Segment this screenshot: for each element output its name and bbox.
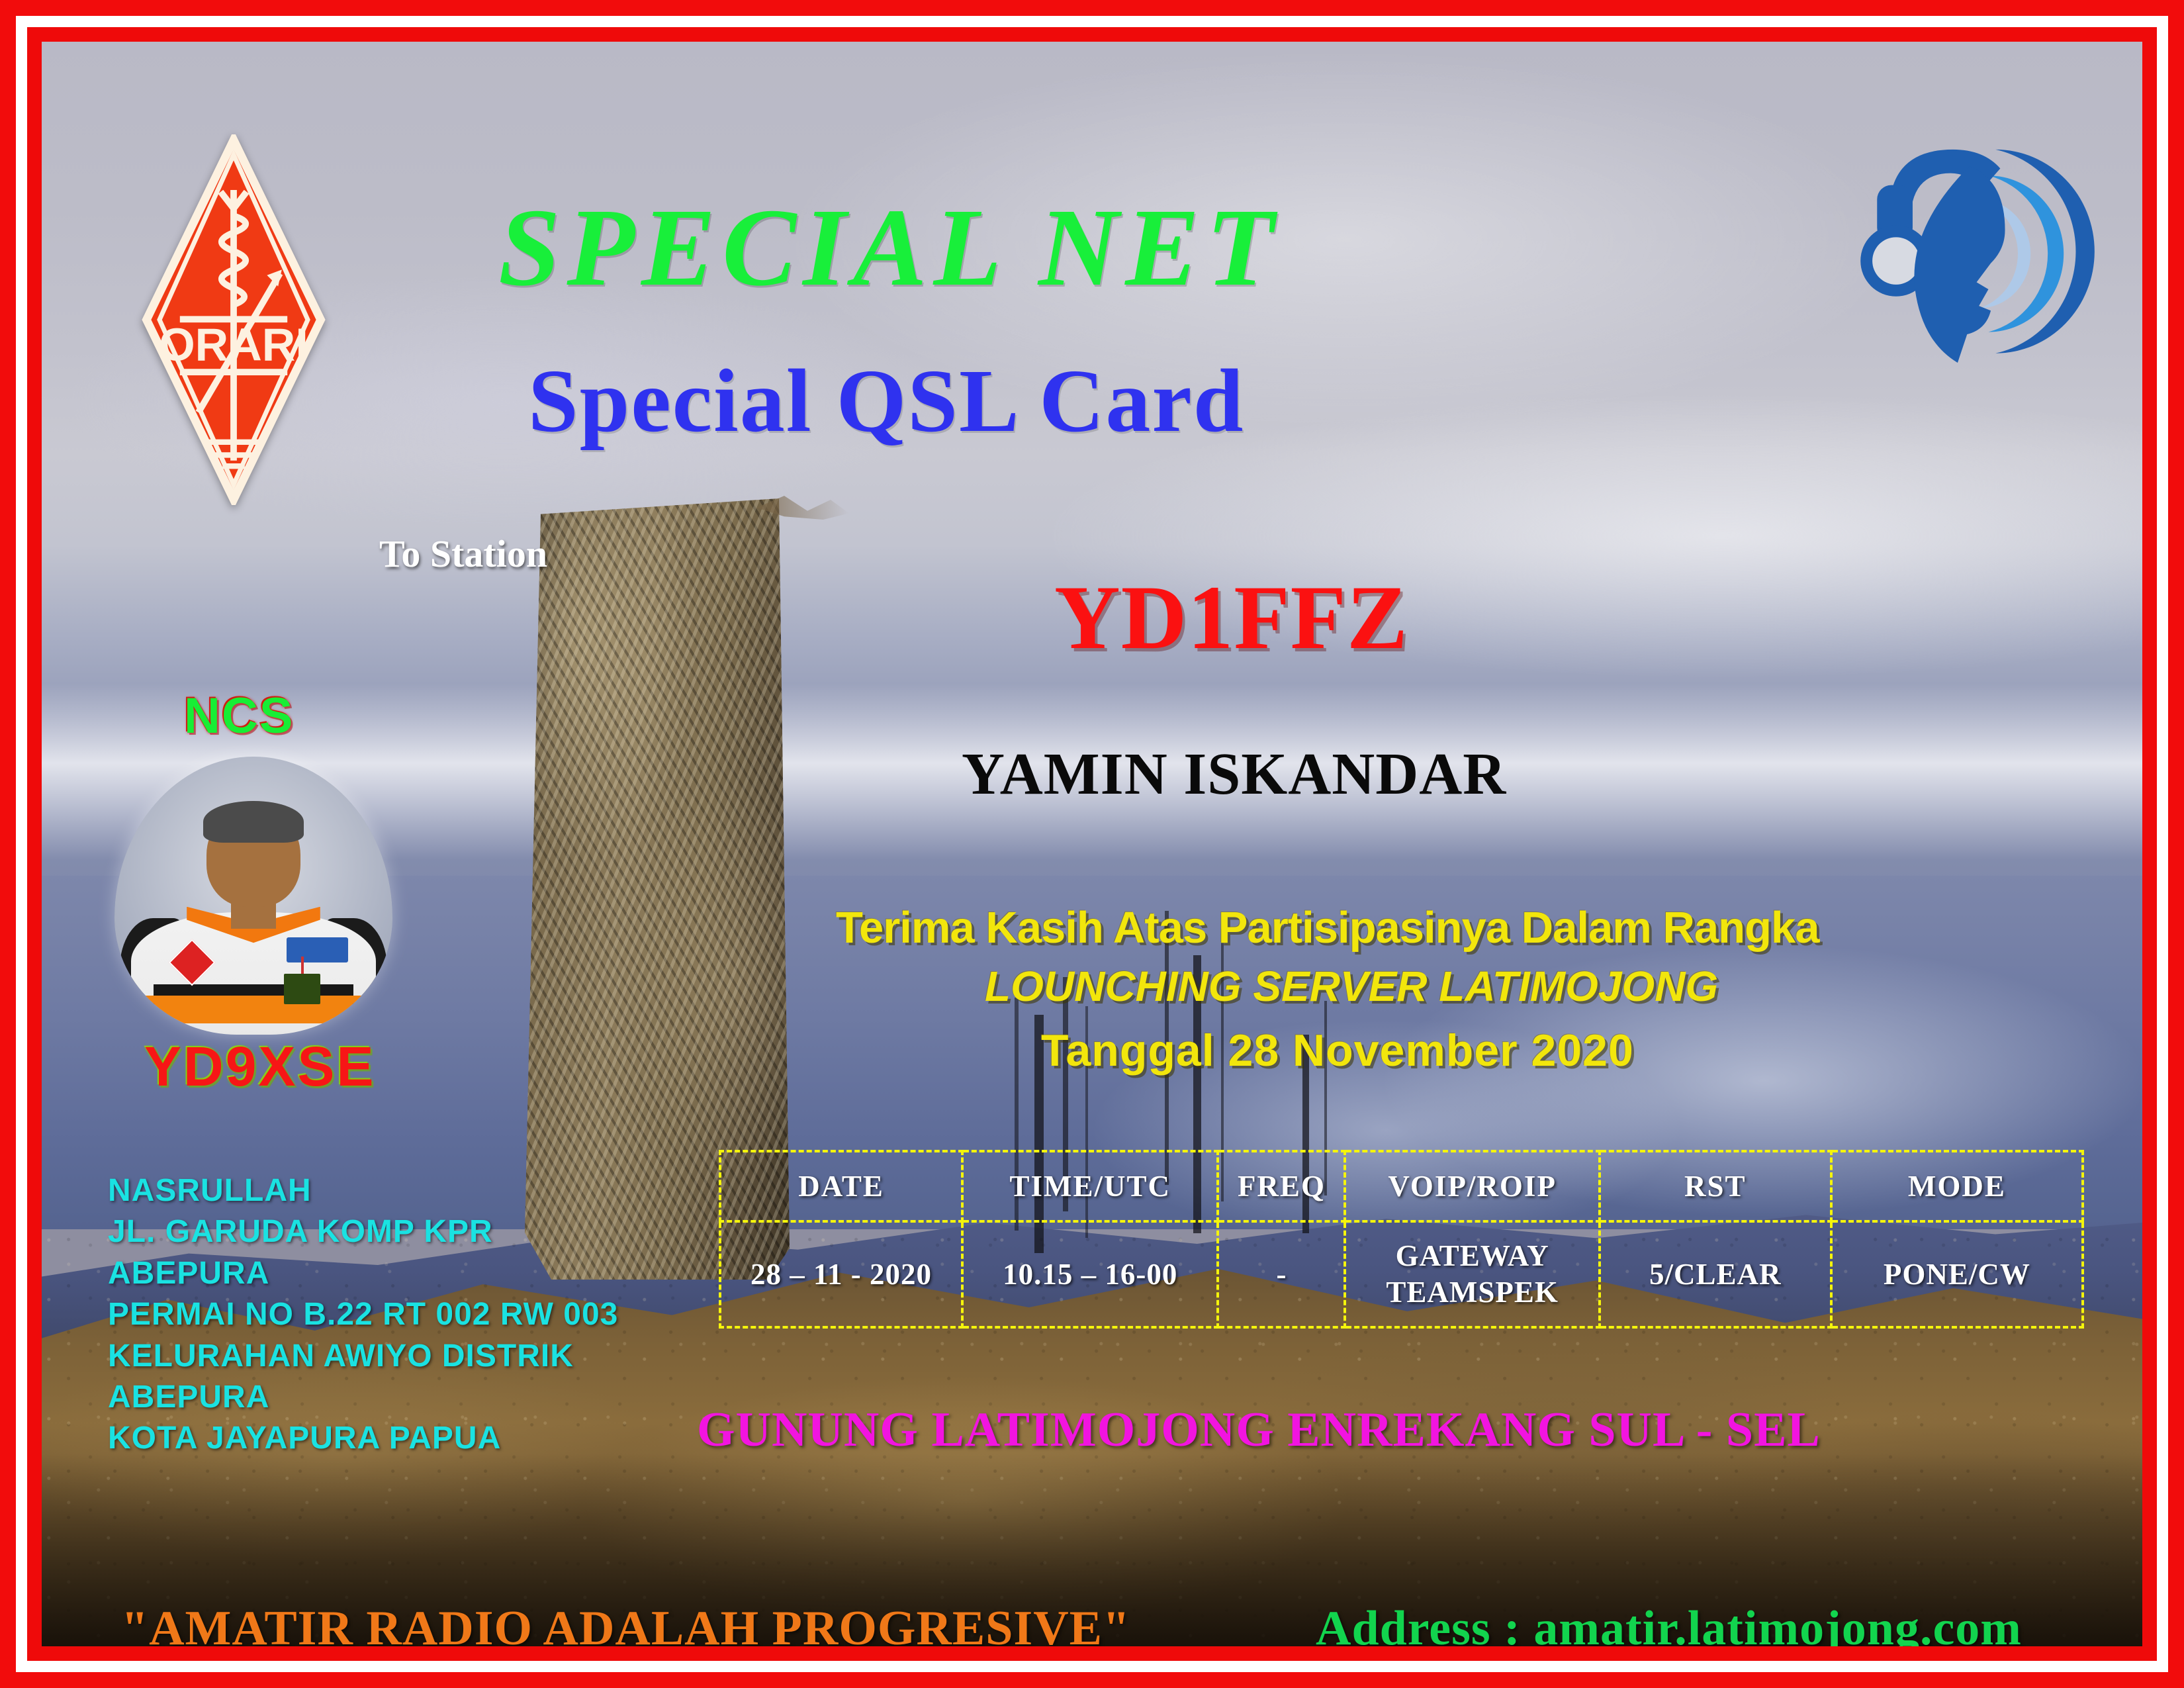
portrait-club-patch — [287, 937, 347, 962]
cell-voip: GATEWAY TEAMSPEK — [1345, 1221, 1599, 1327]
event-name: LOUNCHING SERVER LATIMOJONG — [985, 962, 1718, 1011]
address-line: ABEPURA — [108, 1377, 618, 1418]
recipient-callsign: YD1FFZ — [1054, 565, 1408, 670]
table-header-row: DATE TIME/UTC FREQ VOIP/ROIP RST MODE — [720, 1151, 2083, 1221]
address-line: PERMAI NO B.22 RT 002 RW 003 — [108, 1294, 618, 1335]
address-line: KOTA JAYAPURA PAPUA — [108, 1418, 618, 1459]
qso-log-table: DATE TIME/UTC FREQ VOIP/ROIP RST MODE 28… — [719, 1150, 2084, 1329]
portrait-hair — [203, 801, 303, 843]
qsl-card-outer-border: ORARI SPECIAL NET Spe — [0, 0, 2184, 1688]
event-date: Tanggal 28 November 2020 — [1041, 1025, 1634, 1076]
address-line: NASRULLAH — [108, 1170, 618, 1211]
address-line: KELURAHAN AWIYO DISTRIK — [108, 1336, 618, 1377]
column-header-date: DATE — [720, 1151, 962, 1221]
qsl-mailing-address: NASRULLAH JL. GARUDA KOMP KPR ABEPURA PE… — [108, 1170, 618, 1460]
cell-time: 10.15 – 16-00 — [962, 1221, 1218, 1327]
qsl-card-inner-border: ORARI SPECIAL NET Spe — [27, 27, 2157, 1661]
event-location: GUNUNG LATIMOJONG ENREKANG SUL - SEL — [697, 1402, 1821, 1458]
thanks-line-1: Terima Kasih Atas Partisipasinya Dalam R… — [836, 902, 1819, 953]
address-line: JL. GARUDA KOMP KPR — [108, 1211, 618, 1252]
ncs-callsign: YD9XSE — [144, 1035, 376, 1099]
page-title: SPECIAL NET — [498, 184, 1281, 312]
column-header-rst: RST — [1600, 1151, 1831, 1221]
cell-freq: - — [1218, 1221, 1345, 1327]
ncs-operator-photo — [114, 757, 392, 1035]
ncs-label: NCS — [184, 687, 294, 745]
headset-profile-logo — [1852, 138, 2097, 363]
cell-date: 28 – 11 - 2020 — [720, 1221, 962, 1327]
web-address: Address : amatir.latimojong.com — [1316, 1601, 2022, 1646]
table-row: 28 – 11 - 2020 10.15 – 16-00 - GATEWAY T… — [720, 1221, 2083, 1327]
address-line: ABEPURA — [108, 1253, 618, 1294]
portrait-waist-band — [131, 996, 376, 1023]
club-motto: "AMATIR RADIO ADALAH PROGRESIVE" — [121, 1601, 1130, 1646]
column-header-freq: FREQ — [1218, 1151, 1345, 1221]
portrait-id-card — [284, 974, 320, 1004]
page-subtitle: Special QSL Card — [528, 350, 1244, 453]
cell-rst: 5/CLEAR — [1600, 1221, 1831, 1327]
orari-logo: ORARI — [141, 134, 326, 505]
orari-wordmark: ORARI — [159, 319, 308, 371]
column-header-voip: VOIP/ROIP — [1345, 1151, 1599, 1221]
to-station-label: To Station — [379, 532, 547, 576]
recipient-name: YAMIN ISKANDAR — [962, 740, 1506, 808]
qsl-card-white-band: ORARI SPECIAL NET Spe — [16, 16, 2168, 1672]
column-header-mode: MODE — [1831, 1151, 2083, 1221]
column-header-time: TIME/UTC — [962, 1151, 1218, 1221]
cell-mode: PONE/CW — [1831, 1221, 2083, 1327]
background-photograph: ORARI SPECIAL NET Spe — [42, 42, 2142, 1646]
